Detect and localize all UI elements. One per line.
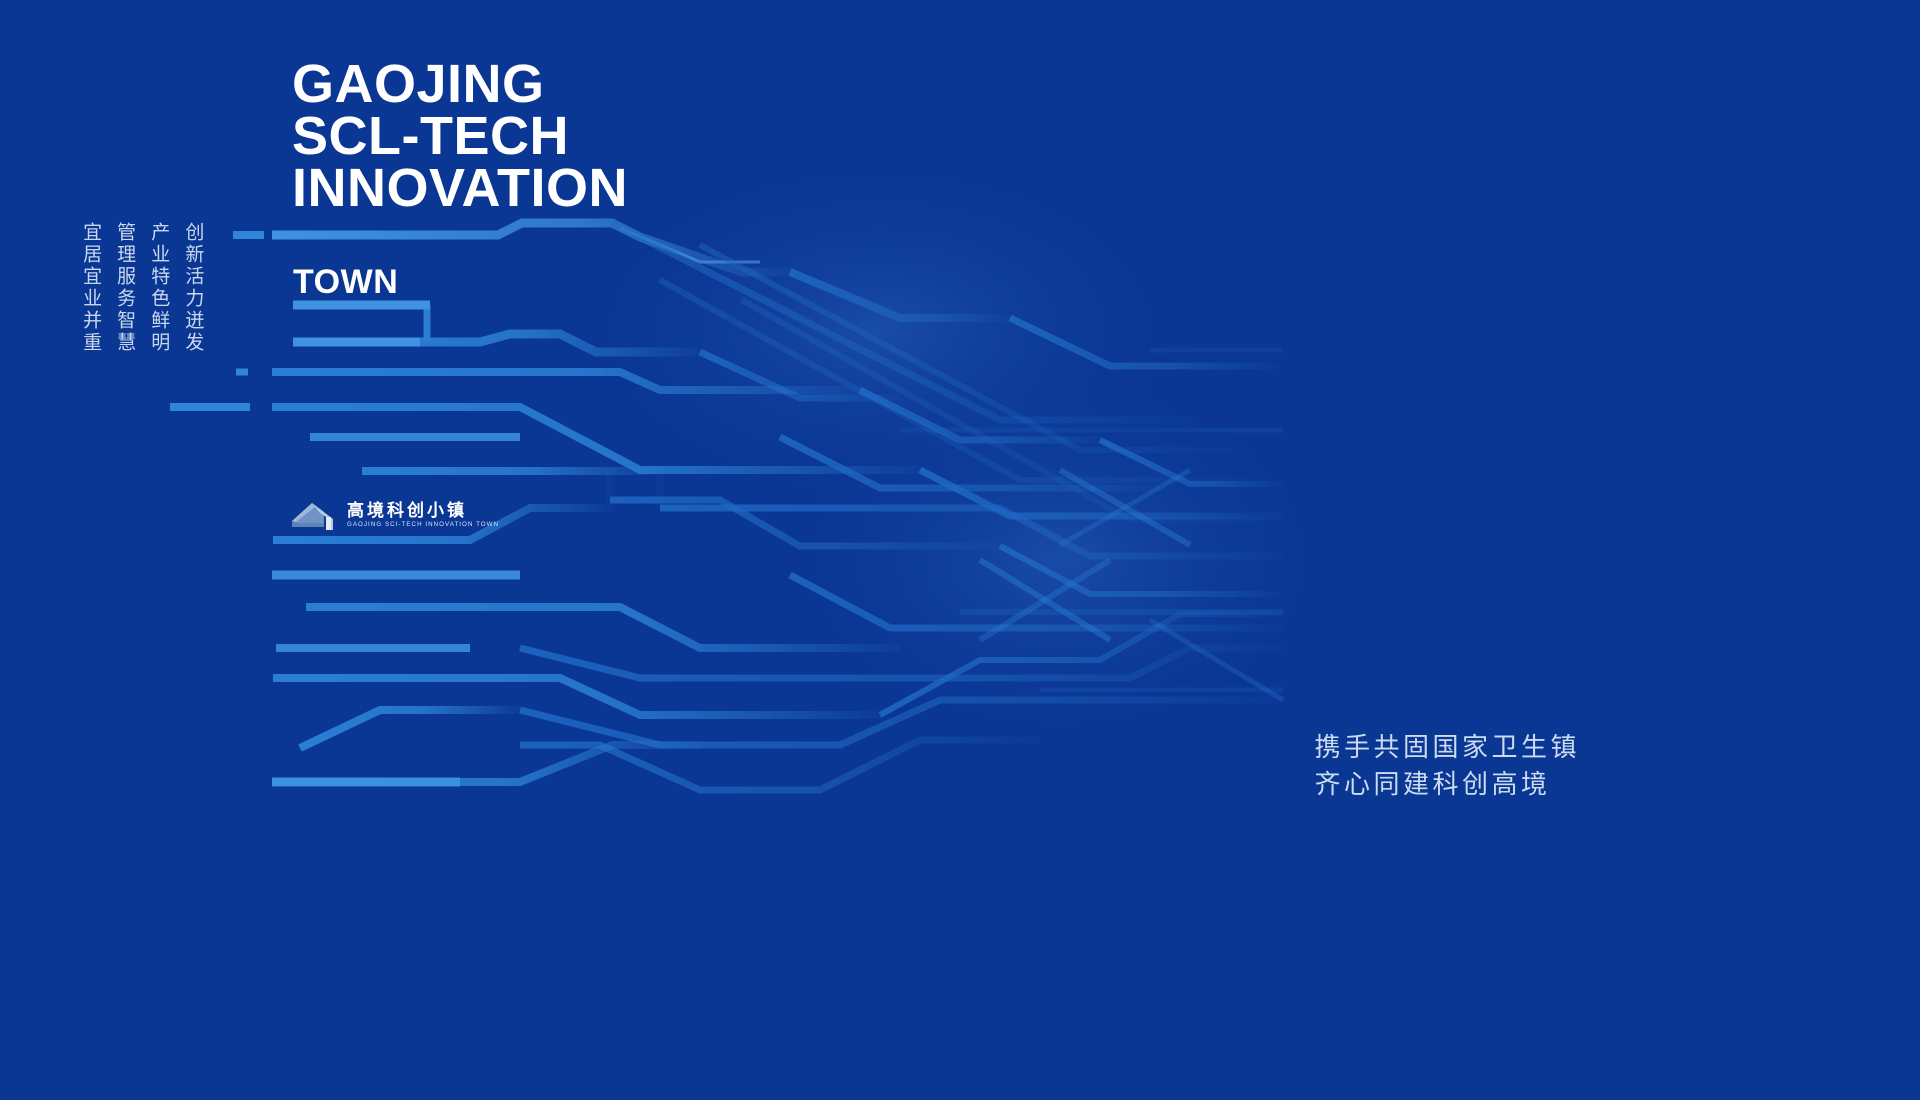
bottom-slogan: 携手共固国家卫生镇 齐心同建科创高境	[1314, 730, 1580, 804]
circuit-network-graphic	[0, 0, 1920, 1100]
logo-text-block: 高境科创小镇 GAOJING SCI-TECH INNOVATION TOWN	[347, 503, 499, 528]
vertical-slogan-col-3: 管理服务智慧	[112, 222, 137, 354]
logo: 高境科创小镇 GAOJING SCI-TECH INNOVATION TOWN	[290, 497, 499, 535]
logo-english-name: GAOJING SCI-TECH INNOVATION TOWN	[347, 522, 499, 528]
poster-canvas: 创新活力迸发 产业特色鲜明 管理服务智慧 宜居宜业并重 GAOJING SCL-…	[0, 0, 1920, 1100]
vertical-slogan-col-1: 创新活力迸发	[180, 222, 205, 354]
page-title: GAOJING SCL-TECH INNOVATION	[292, 58, 628, 214]
bottom-slogan-line-2: 齐心同建科创高境	[1314, 767, 1580, 804]
headline-line-4: TOWN	[293, 263, 398, 302]
headline-line-1: GAOJING	[292, 58, 628, 110]
house-roof-icon	[290, 497, 338, 535]
vertical-slogan: 创新活力迸发 产业特色鲜明 管理服务智慧 宜居宜业并重	[78, 222, 205, 354]
vertical-slogan-col-2: 产业特色鲜明	[146, 222, 171, 354]
bottom-slogan-line-1: 携手共固国家卫生镇	[1314, 730, 1580, 767]
headline-line-2: SCL-TECH	[292, 110, 628, 162]
headline-line-3: INNOVATION	[292, 162, 628, 214]
logo-chinese-name: 高境科创小镇	[347, 503, 499, 520]
vertical-slogan-col-4: 宜居宜业并重	[78, 222, 103, 354]
